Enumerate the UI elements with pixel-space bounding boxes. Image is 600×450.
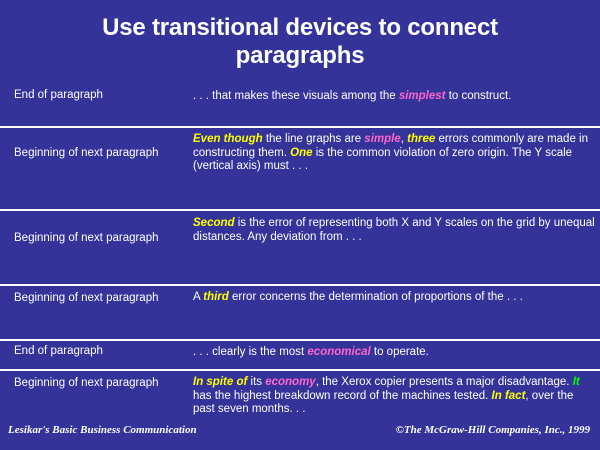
emphasized-phrase: In fact [492, 390, 526, 402]
emphasized-phrase: economy [265, 376, 316, 388]
emphasized-phrase: simple [364, 133, 400, 145]
emphasized-phrase: One [290, 147, 312, 159]
page-title: Use transitional devices to connect para… [0, 0, 600, 70]
table-row: Beginning of next paragraph A third erro… [0, 286, 600, 341]
row-example-text: . . . clearly is the most economical to … [193, 341, 600, 365]
emphasized-phrase: In spite of [193, 376, 247, 388]
plain-text: . . . clearly is the most [193, 346, 307, 358]
plain-text: has the highest breakdown record of the … [193, 390, 492, 402]
row-example-text: A third error concerns the determination… [193, 286, 600, 310]
row-label: Beginning of next paragraph [0, 371, 193, 396]
row-label: Beginning of next paragraph [0, 128, 193, 166]
transitional-devices-table: End of paragraph . . . that makes these … [0, 85, 600, 422]
row-label: End of paragraph [0, 341, 193, 364]
emphasized-phrase: Even though [193, 133, 263, 145]
plain-text: , the Xerox copier presents a major disa… [316, 376, 573, 388]
table-row: End of paragraph . . . that makes these … [0, 85, 600, 128]
emphasized-phrase: It [573, 376, 580, 388]
plain-text: error concerns the determination of prop… [229, 291, 523, 303]
footer-copyright: ©The McGraw-Hill Companies, Inc., 1999 [396, 424, 592, 437]
row-label: Beginning of next paragraph [0, 286, 193, 311]
table-row: Beginning of next paragraph Even though … [0, 128, 600, 211]
plain-text: A [193, 291, 203, 303]
row-example-text: In spite of its economy, the Xerox copie… [193, 371, 600, 422]
row-example-text: Second is the error of representing both… [193, 211, 600, 249]
emphasized-phrase: economical [307, 346, 370, 358]
plain-text: to operate. [371, 346, 429, 358]
plain-text: its [247, 376, 265, 388]
emphasized-phrase: three [407, 133, 435, 145]
slide: Use transitional devices to connect para… [0, 0, 600, 450]
row-label: Beginning of next paragraph [0, 211, 193, 251]
row-example-text: Even though the line graphs are simple, … [193, 128, 600, 179]
table-row: Beginning of next paragraph In spite of … [0, 371, 600, 422]
plain-text: is the error of representing both X and … [193, 217, 595, 243]
table-row: End of paragraph . . . clearly is the mo… [0, 341, 600, 371]
emphasized-phrase: simplest [399, 90, 446, 102]
table-row: Beginning of next paragraph Second is th… [0, 211, 600, 286]
emphasized-phrase: Second [193, 217, 235, 229]
emphasized-phrase: third [203, 291, 229, 303]
plain-text: to construct. [446, 90, 512, 102]
slide-footer: Lesikar's Basic Business Communication ©… [0, 422, 600, 450]
plain-text: . . . that makes these visuals among the [193, 90, 399, 102]
footer-source-label: Lesikar's Basic Business Communication [8, 424, 197, 437]
row-example-text: . . . that makes these visuals among the… [193, 85, 600, 109]
plain-text: the line graphs are [263, 133, 365, 145]
row-label: End of paragraph [0, 85, 193, 108]
